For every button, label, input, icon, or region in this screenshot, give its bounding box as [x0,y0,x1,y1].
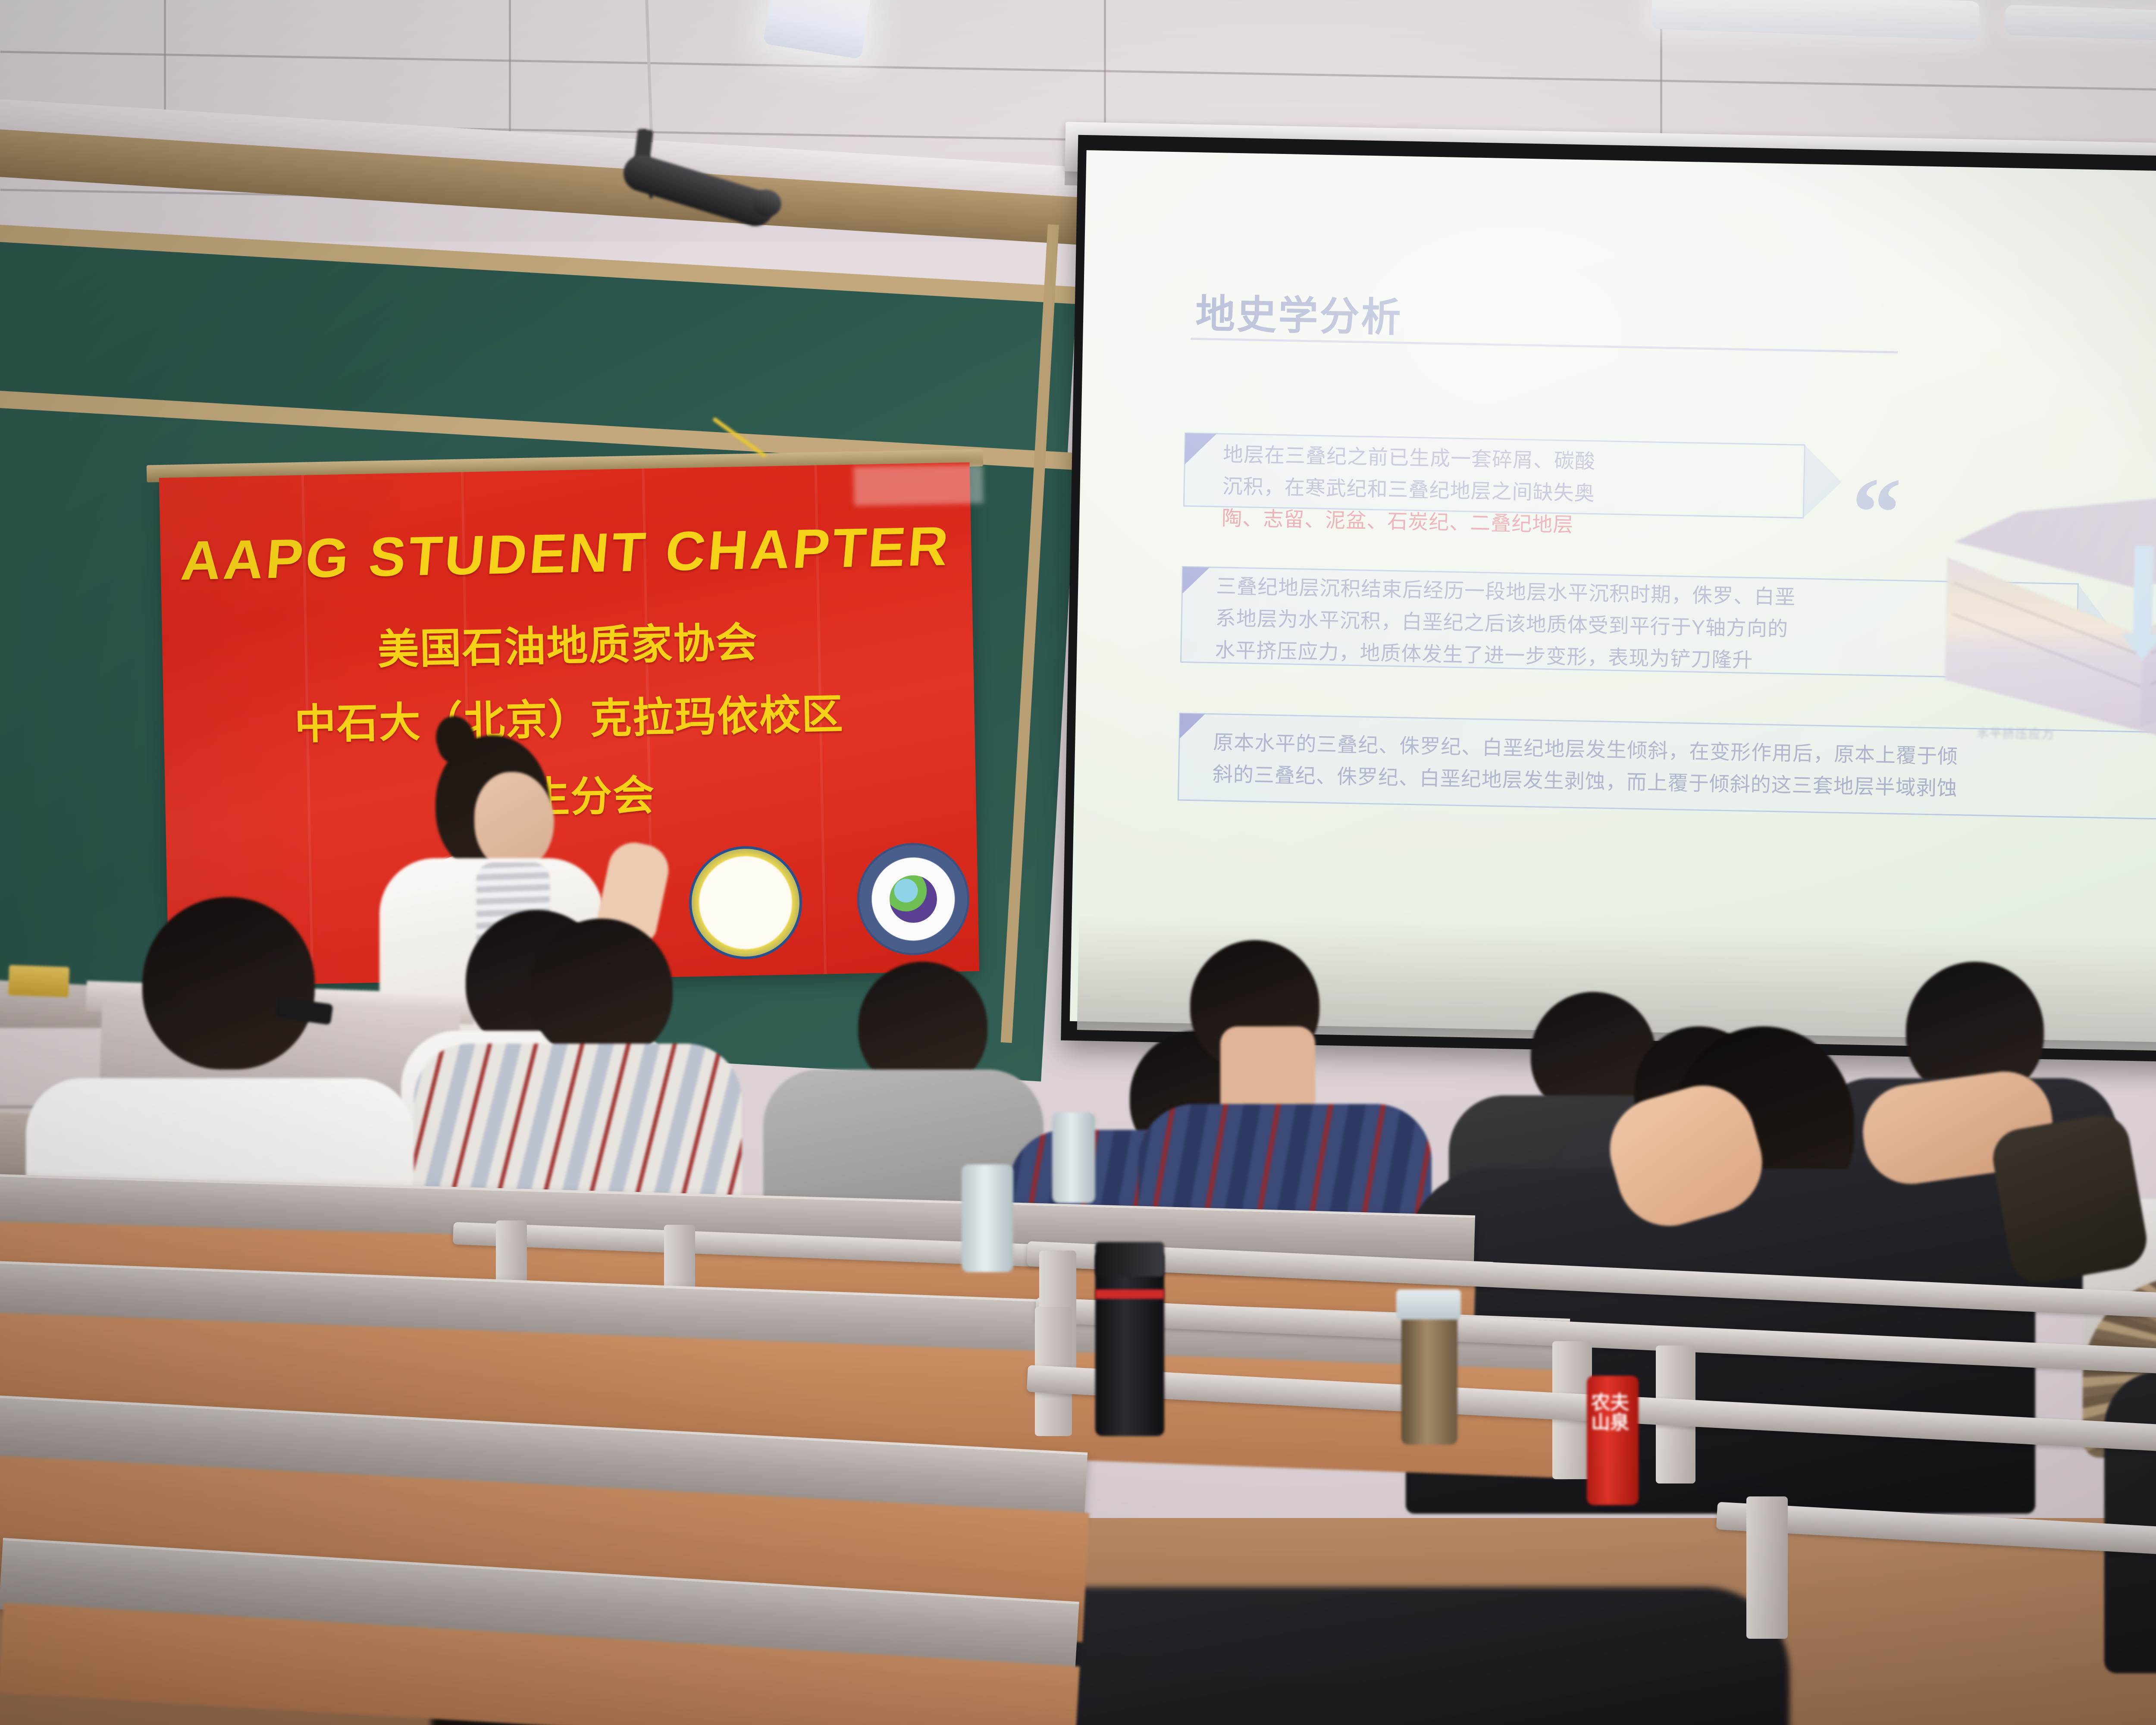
plastic-water-bottle [962,1164,1013,1272]
water-bottle-cap [1396,1289,1461,1320]
banner-chinese-line-3: 学生分会 [165,756,976,831]
globe-icon [889,875,937,923]
nongfu-label-text: 农夫山泉 [1591,1393,1639,1433]
classroom-scene: AAPG STUDENT CHAPTER 美国石油地质家协会 中石大（北京）克拉… [0,0,2156,1725]
projector-screen: 地史学分析 地层在三叠纪之前已生成一套碎屑、碳酸 沉积，在寒武纪和三叠纪地层之间… [1070,150,2156,1049]
water-bottle-clear [1401,1307,1457,1445]
banner-chinese-line-2: 中石大（北京）克拉玛依校区 [163,678,975,753]
aapg-logo [688,845,803,960]
sleeve [1988,1110,2151,1287]
desk-post [1746,1496,1788,1639]
aapg-student-chapter-logo [856,842,970,956]
banner-light-sheen [853,464,984,506]
thermos-red-band [1095,1289,1164,1299]
chalk-box [8,965,69,997]
banner-chinese-line-1: 美国石油地质家协会 [162,605,973,680]
plastic-water-bottle [1052,1113,1095,1203]
thermos-flask [1095,1251,1164,1436]
banner-english-title: AAPG STUDENT CHAPTER [158,514,974,593]
thermos-cap [1095,1242,1164,1276]
screen-glare [1070,150,2156,1049]
presentation-slide: 地史学分析 地层在三叠纪之前已生成一套碎屑、碳酸 沉积，在寒武纪和三叠纪地层之间… [1070,150,2156,1049]
